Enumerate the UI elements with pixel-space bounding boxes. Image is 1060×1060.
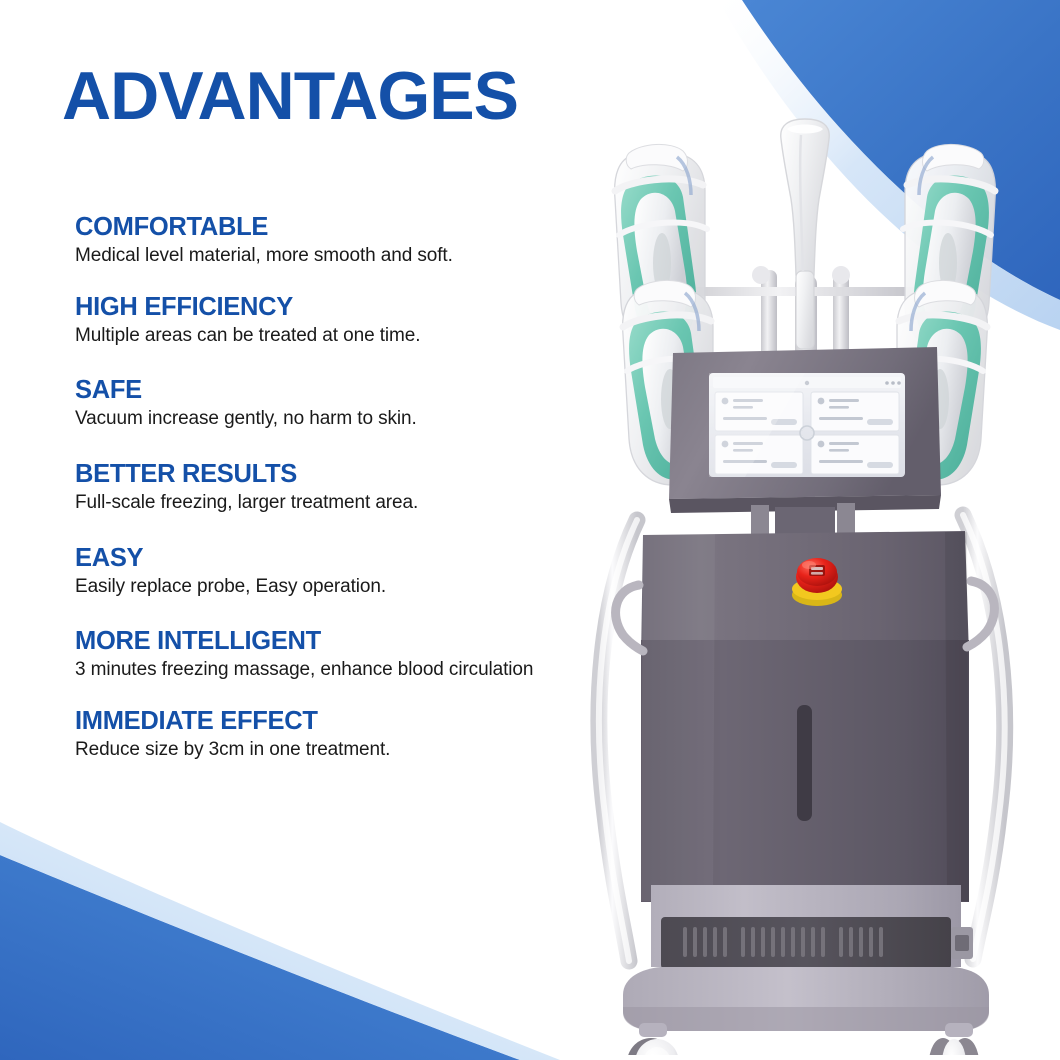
feature-item-better-results: BETTER RESULTS Full-scale freezing, larg… xyxy=(75,459,553,515)
product-image-cryolipolysis-machine xyxy=(565,95,1045,1055)
feature-title: SAFE xyxy=(75,375,553,405)
feature-description: Medical level material, more smooth and … xyxy=(75,244,553,268)
feature-title: EASY xyxy=(75,543,553,573)
feature-title: MORE INTELLIGENT xyxy=(75,626,553,656)
feature-description: Easily replace probe, Easy operation. xyxy=(75,575,553,599)
base-chassis xyxy=(623,967,989,1031)
feature-item-high-efficiency: HIGH EFFICIENCY Multiple areas can be tr… xyxy=(75,292,553,348)
feature-item-safe: SAFE Vacuum increase gently, no harm to … xyxy=(75,375,553,431)
feature-item-easy: EASY Easily replace probe, Easy operatio… xyxy=(75,543,553,599)
feature-title: HIGH EFFICIENCY xyxy=(75,292,553,322)
lower-cabinet xyxy=(651,885,973,969)
infographic-page: ADVANTAGES COMFORTABLE Medical level mat… xyxy=(0,0,1060,1060)
cable-hook-left xyxy=(616,585,643,651)
feature-description: Vacuum increase gently, no harm to skin. xyxy=(75,407,553,431)
feature-description: Full-scale freezing, larger treatment ar… xyxy=(75,491,553,515)
feature-item-immediate-effect: IMMEDIATE EFFECT Reduce size by 3cm in o… xyxy=(75,706,553,762)
feature-list: COMFORTABLE Medical level material, more… xyxy=(75,212,553,761)
main-body xyxy=(616,531,995,902)
feature-title: IMMEDIATE EFFECT xyxy=(75,706,553,736)
feature-item-more-intelligent: MORE INTELLIGENT 3 minutes freezing mass… xyxy=(75,626,553,682)
feature-title: BETTER RESULTS xyxy=(75,459,553,489)
feature-description: 3 minutes freezing massage, enhance bloo… xyxy=(75,658,553,682)
page-title: ADVANTAGES xyxy=(62,62,518,130)
chin-applicator xyxy=(781,119,830,349)
feature-title: COMFORTABLE xyxy=(75,212,553,242)
feature-description: Multiple areas can be treated at one tim… xyxy=(75,324,553,348)
panel-slot xyxy=(797,705,812,821)
feature-item-comfortable: COMFORTABLE Medical level material, more… xyxy=(75,212,553,268)
touchscreen-monitor[interactable] xyxy=(669,347,941,513)
feature-description: Reduce size by 3cm in one treatment. xyxy=(75,738,553,762)
text-column: ADVANTAGES COMFORTABLE Medical level mat… xyxy=(0,0,600,1060)
